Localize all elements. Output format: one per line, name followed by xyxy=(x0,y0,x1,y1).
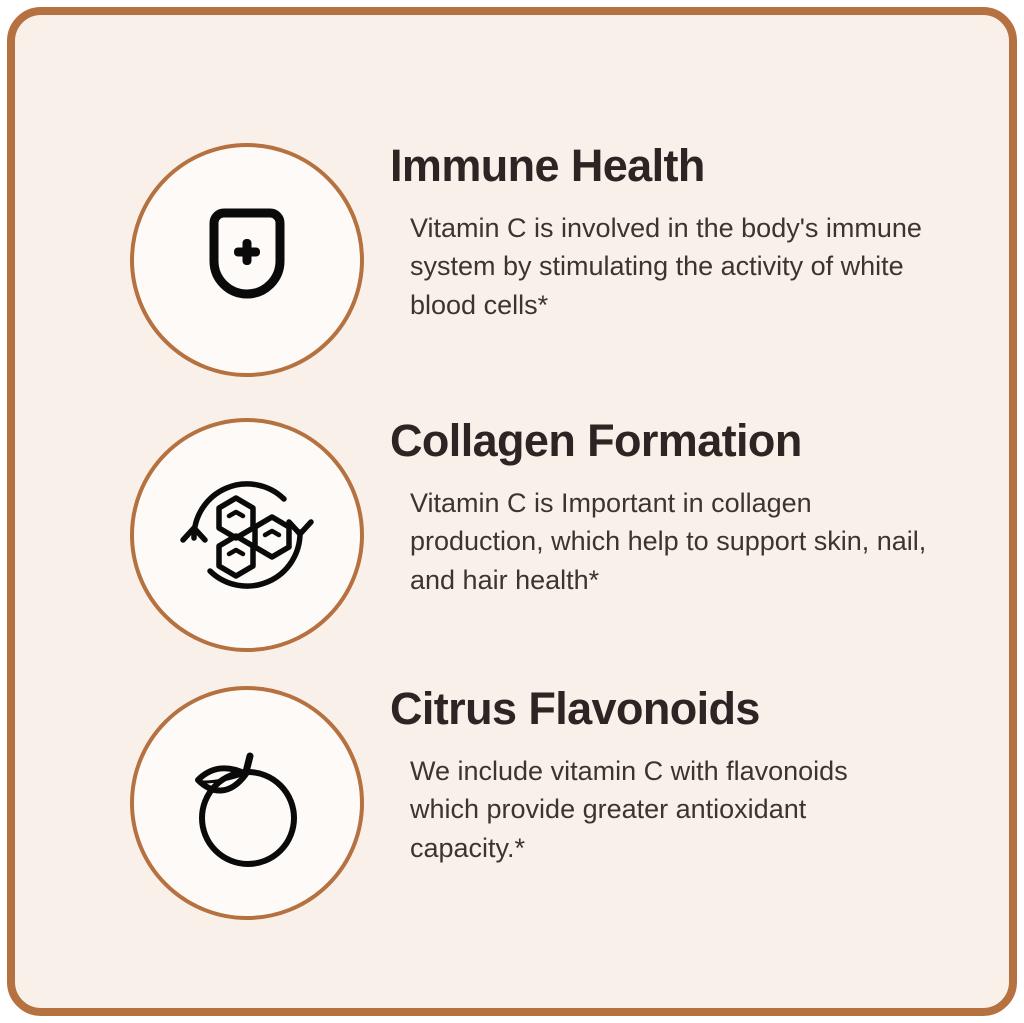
text-col-citrus-flavonoids: Citrus Flavonoids We include vitamin C w… xyxy=(390,686,1009,867)
icon-wrap-immune-health xyxy=(128,143,366,377)
benefit-body: We include vitamin C with flavonoids whi… xyxy=(390,752,910,867)
benefit-row-collagen-formation: Collagen Formation Vitamin C is Importan… xyxy=(15,418,1009,652)
benefit-row-citrus-flavonoids: Citrus Flavonoids We include vitamin C w… xyxy=(15,686,1009,920)
icon-wrap-citrus-flavonoids xyxy=(128,686,366,920)
benefit-body: Vitamin C is Important in collagen produ… xyxy=(390,484,949,599)
citrus-orange-icon xyxy=(172,728,322,878)
benefit-row-immune-health: Immune Health Vitamin C is involved in t… xyxy=(15,143,1009,377)
shield-plus-icon xyxy=(182,195,312,325)
benefit-list: Immune Health Vitamin C is involved in t… xyxy=(15,15,1009,1008)
icon-circle-immune-health xyxy=(130,143,364,377)
benefit-body: Vitamin C is involved in the body's immu… xyxy=(390,209,949,324)
infographic-page: Immune Health Vitamin C is involved in t… xyxy=(0,0,1024,1023)
infographic-card: Immune Health Vitamin C is involved in t… xyxy=(7,7,1017,1016)
benefit-heading: Collagen Formation xyxy=(390,418,949,464)
icon-circle-citrus-flavonoids xyxy=(130,686,364,920)
text-col-collagen-formation: Collagen Formation Vitamin C is Importan… xyxy=(390,418,1009,599)
benefit-heading: Immune Health xyxy=(390,143,949,189)
honeycomb-cycle-icon xyxy=(172,460,322,610)
icon-wrap-collagen-formation xyxy=(128,418,366,652)
benefit-heading: Citrus Flavonoids xyxy=(390,686,949,732)
text-col-immune-health: Immune Health Vitamin C is involved in t… xyxy=(390,143,1009,324)
icon-circle-collagen-formation xyxy=(130,418,364,652)
